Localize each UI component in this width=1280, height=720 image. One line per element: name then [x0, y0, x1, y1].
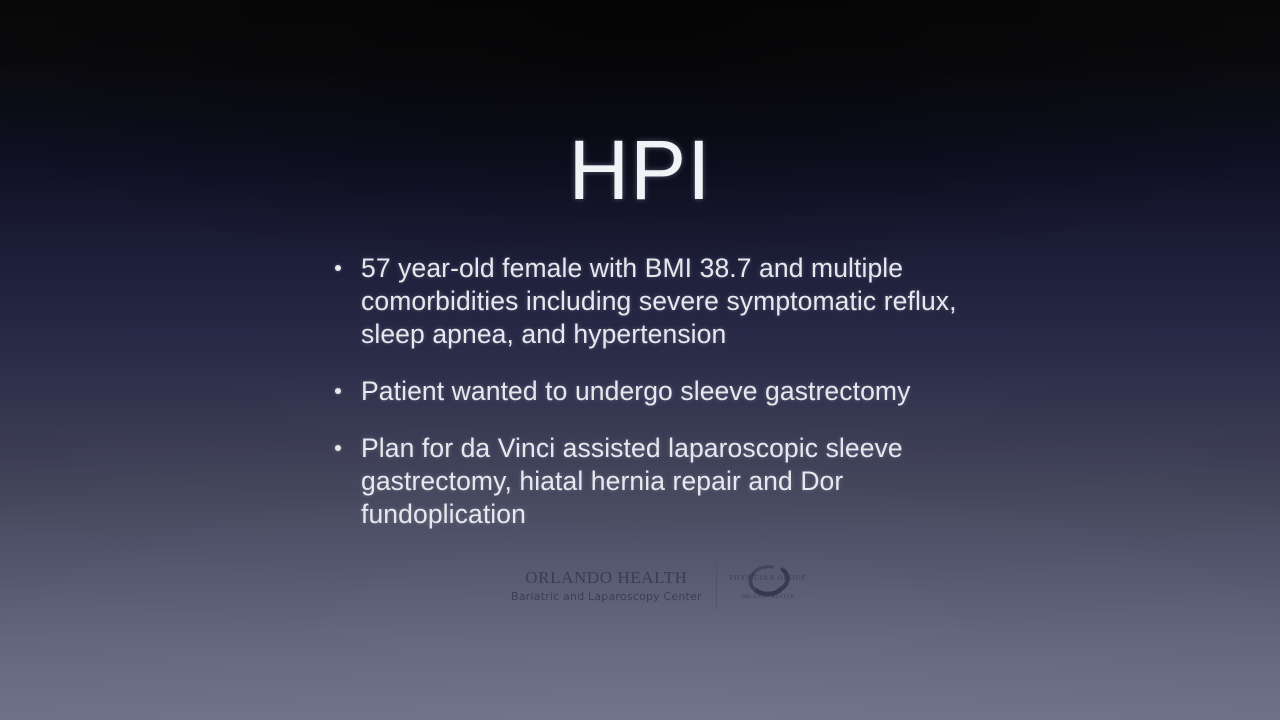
list-item: Patient wanted to undergo sleeve gastrec…	[332, 375, 972, 408]
list-item-text: 57 year-old female with BMI 38.7 and mul…	[361, 253, 957, 349]
presentation-slide: HPI 57 year-old female with BMI 38.7 and…	[0, 0, 1280, 720]
logo-tagline-text: Bariatric and Laparoscopy Center	[511, 590, 702, 603]
orlando-health-logo: Orlando Health Bariatric and Laparoscopy…	[511, 561, 806, 611]
page-title: HPI	[0, 126, 1280, 214]
list-item: 57 year-old female with BMI 38.7 and mul…	[332, 252, 972, 351]
physician-group-sublabel: Orlando Health	[741, 595, 795, 600]
list-item-text: Patient wanted to undergo sleeve gastrec…	[361, 376, 910, 406]
logo-wordmark-group: Orlando Health Bariatric and Laparoscopy…	[511, 569, 716, 603]
list-item: Plan for da Vinci assisted laparoscopic …	[332, 432, 972, 531]
slide-content: HPI 57 year-old female with BMI 38.7 and…	[0, 0, 1280, 720]
bullet-list: 57 year-old female with BMI 38.7 and mul…	[332, 252, 972, 531]
list-item-text: Plan for da Vinci assisted laparoscopic …	[361, 433, 903, 529]
physician-group-logo: Physician Group Orlando Health	[730, 561, 806, 611]
logo-wordmark-text: Orlando Health	[511, 569, 702, 587]
bullet-dot-icon	[335, 265, 341, 271]
logo-divider	[716, 563, 717, 609]
physician-group-label: Physician Group	[730, 574, 806, 582]
bullet-dot-icon	[335, 388, 341, 394]
bullet-dot-icon	[335, 445, 341, 451]
